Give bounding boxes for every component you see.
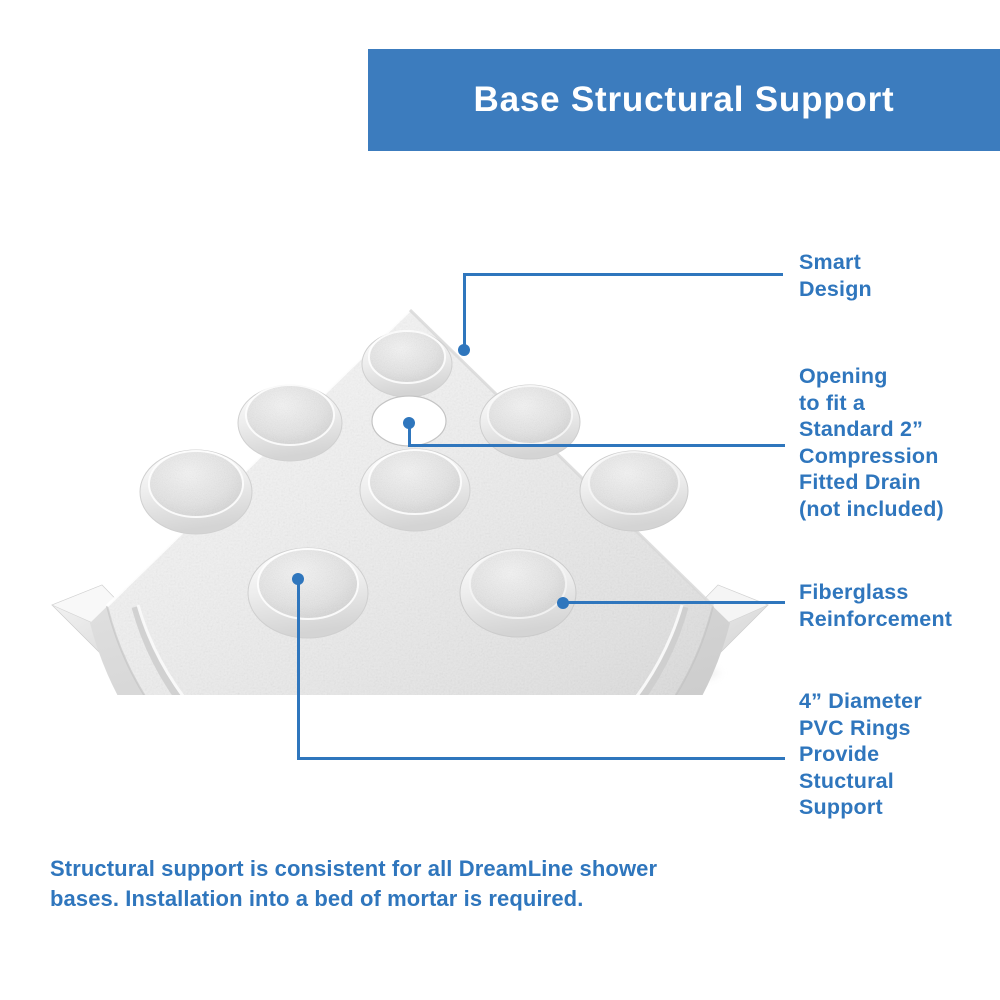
leader-line-fiberglass: [563, 601, 785, 604]
callout-label-smart-design: Smart Design: [799, 249, 872, 302]
leader-line-drain: [408, 444, 785, 447]
leader-dot-fiberglass: [557, 597, 569, 609]
leader-line-smart-design: [463, 273, 783, 276]
callout-label-drain-opening: Opening to fit a Standard 2” Compression…: [799, 363, 944, 522]
pvc-ring: [362, 331, 452, 397]
callout-label-pvc-rings: 4” Diameter PVC Rings Provide Stuctural …: [799, 688, 922, 821]
leader-line-pvc-rings-vertical: [297, 579, 300, 760]
callout-label-fiberglass-reinforcement: Fiberglass Reinforcement: [799, 579, 952, 632]
pvc-ring: [140, 450, 252, 534]
product-illustration: [40, 275, 780, 695]
page-title: Base Structural Support: [474, 80, 895, 120]
pvc-ring: [248, 548, 368, 638]
footer-caption: Structural support is consistent for all…: [50, 854, 690, 914]
pvc-ring: [460, 549, 576, 637]
header-banner: Base Structural Support: [368, 49, 1000, 151]
pvc-ring: [360, 449, 470, 531]
leader-line-pvc-rings: [297, 757, 785, 760]
infographic-page: Base Structural Support: [0, 0, 1000, 1000]
leader-line-smart-design-vertical: [463, 273, 466, 350]
pvc-ring: [580, 451, 688, 531]
pvc-ring: [480, 385, 580, 459]
leader-dot-drain: [403, 417, 415, 429]
pvc-ring: [238, 385, 342, 461]
leader-dot-pvc-rings: [292, 573, 304, 585]
leader-dot-smart-design: [458, 344, 470, 356]
